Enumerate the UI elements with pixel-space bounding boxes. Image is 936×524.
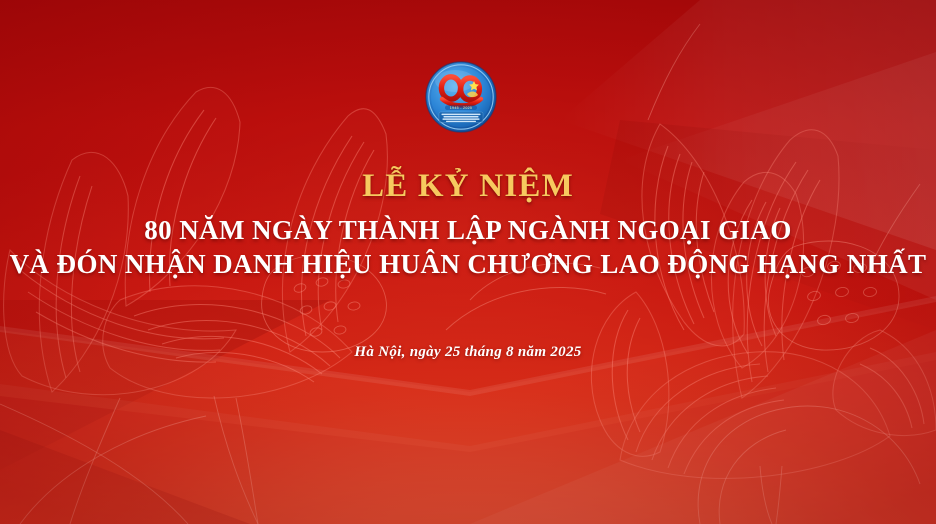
svg-text:1945 - 2025: 1945 - 2025	[450, 106, 472, 110]
subtitle-line-2: VÀ ĐÓN NHẬN DANH HIỆU HUÂN CHƯƠNG LAO ĐỘ…	[0, 248, 936, 281]
date-location-line: Hà Nội, ngày 25 tháng 8 năm 2025	[0, 344, 936, 361]
title-block: LỄ KỶ NIỆM 80 NĂM NGÀY THÀNH LẬP NGÀNH N…	[0, 168, 936, 281]
anniversary-80-emblem-icon: 1945 - 2025	[425, 61, 497, 133]
subtitle-line-1: 80 NĂM NGÀY THÀNH LẬP NGÀNH NGOẠI GIAO	[0, 214, 936, 247]
page-title: LỄ KỶ NIỆM	[0, 168, 936, 205]
ceremony-banner: 1945 - 2025 LỄ KỶ NIỆM 80 NĂM NGÀY THÀNH…	[0, 0, 936, 524]
